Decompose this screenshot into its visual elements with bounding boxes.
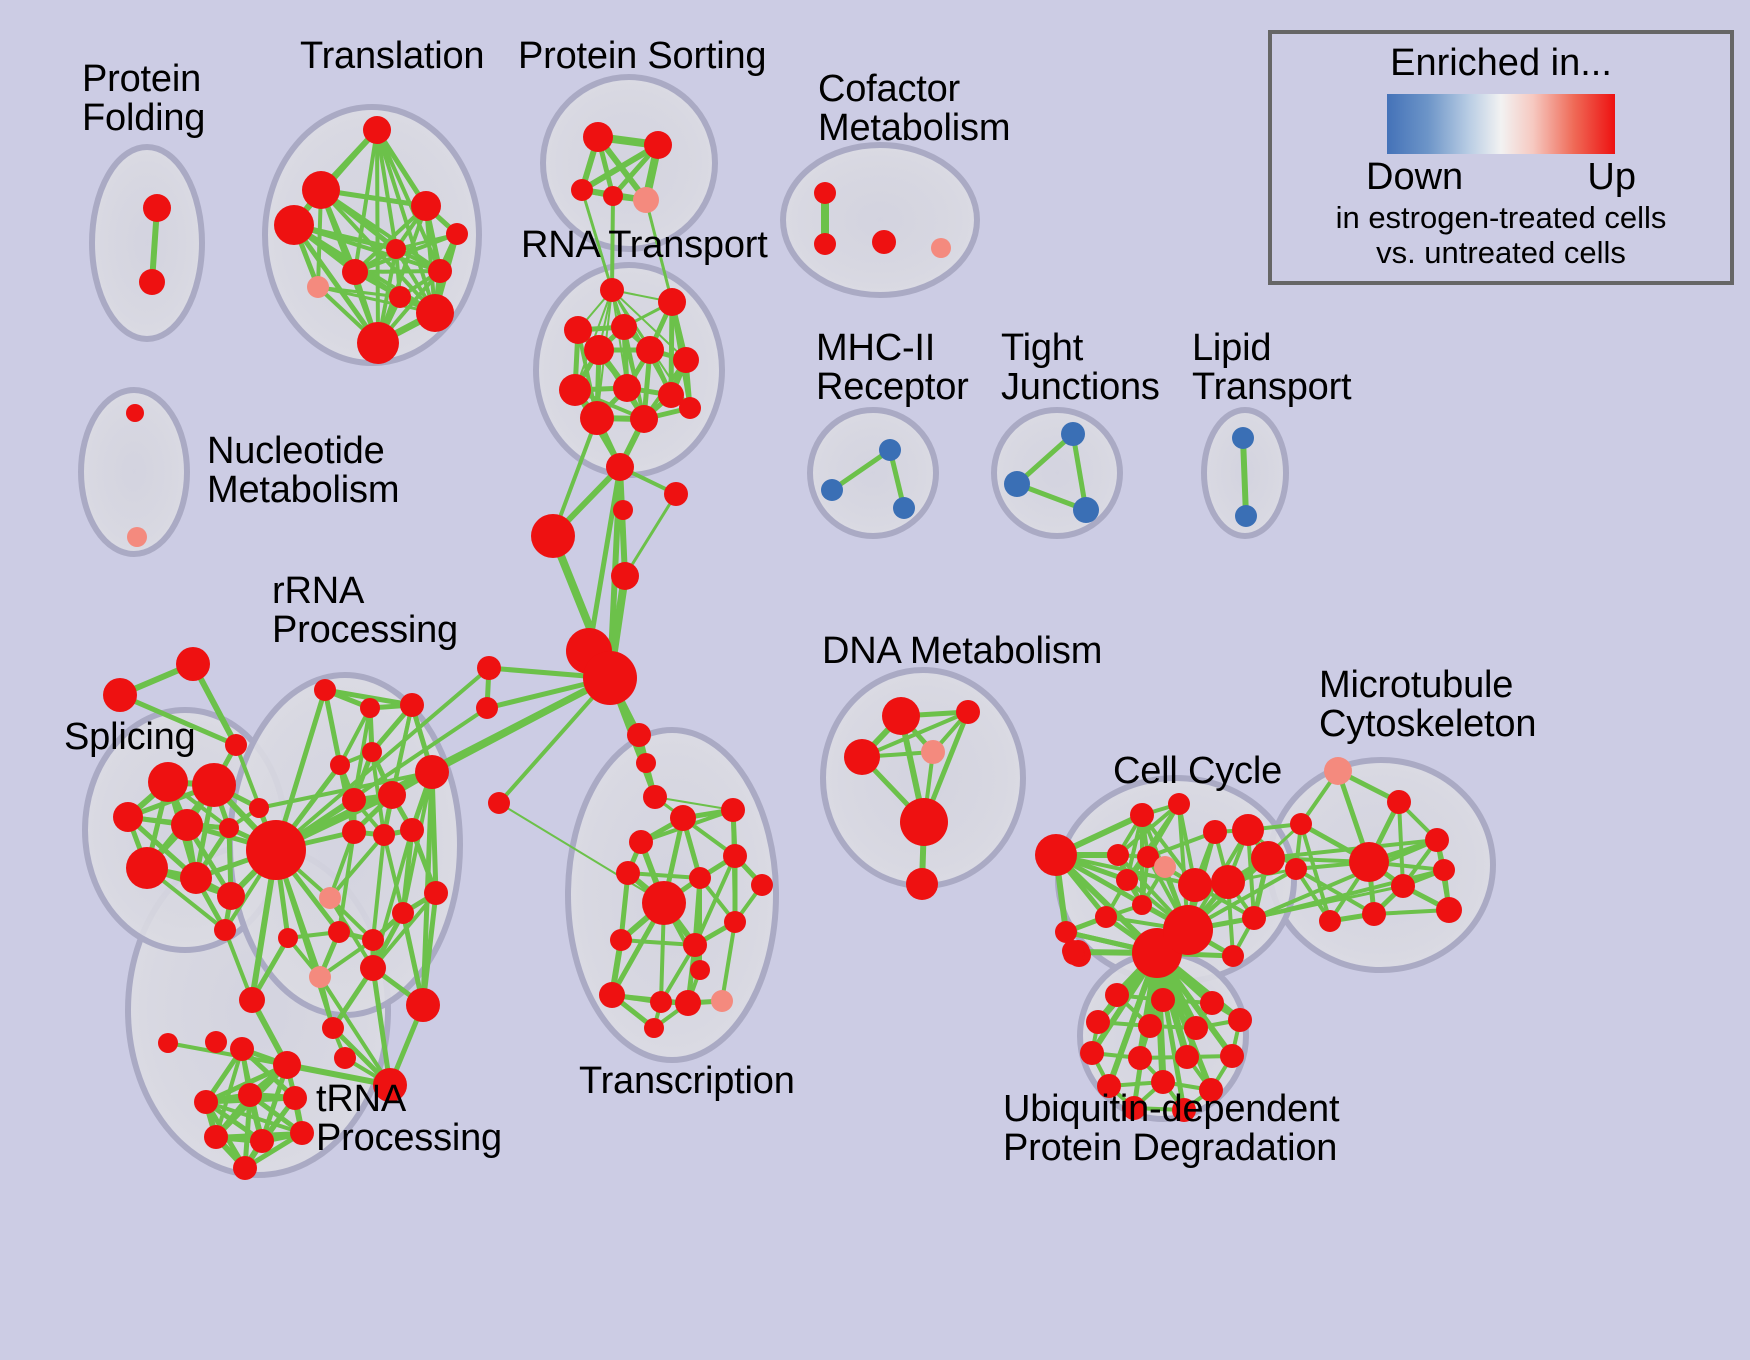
cluster-label-line: Microtubule — [1319, 666, 1536, 705]
gene-set-node[interactable] — [879, 439, 901, 461]
cluster-label-line: Transport — [1192, 368, 1351, 407]
cluster-label-rrna-processing: rRNAProcessing — [272, 572, 458, 650]
gene-set-node[interactable] — [1151, 988, 1175, 1012]
cluster-label-translation: Translation — [300, 37, 484, 76]
gene-set-node[interactable] — [415, 755, 449, 789]
gene-set-node[interactable] — [1130, 803, 1154, 827]
gene-set-node[interactable] — [751, 874, 773, 896]
cluster-label-line: DNA Metabolism — [822, 632, 1102, 671]
gene-set-node[interactable] — [192, 763, 236, 807]
gene-set-node[interactable] — [627, 723, 651, 747]
gene-set-node[interactable] — [1178, 868, 1212, 902]
gene-set-node[interactable] — [721, 798, 745, 822]
gene-set-node[interactable] — [362, 929, 384, 951]
gene-set-node[interactable] — [1200, 991, 1224, 1015]
cluster-label-line: Receptor — [816, 368, 969, 407]
gene-set-node[interactable] — [689, 867, 711, 889]
gene-set-node[interactable] — [217, 882, 245, 910]
gene-set-node[interactable] — [606, 453, 634, 481]
gene-set-node[interactable] — [724, 911, 746, 933]
gene-set-node[interactable] — [1073, 497, 1099, 523]
gene-set-node[interactable] — [148, 762, 188, 802]
gene-set-node[interactable] — [239, 987, 265, 1013]
gene-set-node[interactable] — [1290, 813, 1312, 835]
gene-set-node[interactable] — [711, 990, 733, 1012]
cluster-label-line: Translation — [300, 37, 484, 76]
gene-set-node[interactable] — [1086, 1010, 1110, 1034]
cluster-label-line: Protein Degradation — [1003, 1129, 1339, 1168]
legend-colorbar — [1387, 94, 1615, 154]
gene-set-node[interactable] — [675, 990, 701, 1016]
gene-set-node[interactable] — [670, 805, 696, 831]
gene-set-node[interactable] — [225, 734, 247, 756]
gene-set-node[interactable] — [644, 131, 672, 159]
gene-set-node[interactable] — [278, 928, 298, 948]
gene-set-node[interactable] — [373, 824, 395, 846]
gene-set-node[interactable] — [360, 698, 380, 718]
gene-set-node[interactable] — [1105, 983, 1129, 1007]
gene-set-node[interactable] — [1387, 790, 1411, 814]
mhc-ii-hull — [810, 410, 936, 536]
gene-set-node[interactable] — [1168, 793, 1190, 815]
gene-set-node[interactable] — [931, 238, 951, 258]
gene-set-node[interactable] — [599, 982, 625, 1008]
gene-set-node[interactable] — [322, 1017, 344, 1039]
cluster-label-splicing: Splicing — [64, 718, 195, 757]
gene-set-node[interactable] — [307, 276, 329, 298]
gene-set-node[interactable] — [644, 1018, 664, 1038]
gene-set-node[interactable] — [1324, 757, 1352, 785]
cofactor-metabolism-hull — [783, 145, 977, 295]
gene-set-node[interactable] — [629, 830, 653, 854]
gene-set-node[interactable] — [392, 902, 414, 924]
gene-set-node[interactable] — [274, 205, 314, 245]
gene-set-node[interactable] — [360, 955, 386, 981]
cluster-label-trna-processing: tRNAProcessing — [316, 1080, 502, 1158]
network-edge — [625, 494, 676, 576]
gene-set-node[interactable] — [238, 1083, 262, 1107]
gene-set-node[interactable] — [1055, 921, 1077, 943]
gene-set-node[interactable] — [1433, 859, 1455, 881]
gene-set-node[interactable] — [127, 527, 147, 547]
gene-set-node[interactable] — [330, 755, 350, 775]
gene-set-node[interactable] — [893, 497, 915, 519]
gene-set-node[interactable] — [488, 792, 510, 814]
gene-set-node[interactable] — [126, 847, 168, 889]
cluster-label-line: Processing — [316, 1119, 502, 1158]
gene-set-node[interactable] — [650, 991, 672, 1013]
gene-set-node[interactable] — [1154, 856, 1176, 878]
gene-set-node[interactable] — [400, 818, 424, 842]
cluster-label-line: Tight — [1001, 329, 1160, 368]
gene-set-node[interactable] — [273, 1051, 301, 1079]
cluster-label-line: tRNA — [316, 1080, 502, 1119]
cluster-label-line: Processing — [272, 611, 458, 650]
gene-set-node[interactable] — [1203, 820, 1227, 844]
gene-set-node[interactable] — [814, 182, 836, 204]
gene-set-node[interactable] — [139, 269, 165, 295]
gene-set-node[interactable] — [113, 802, 143, 832]
gene-set-node[interactable] — [1175, 1045, 1199, 1069]
gene-set-node[interactable] — [1220, 1044, 1244, 1068]
gene-set-node[interactable] — [1211, 865, 1245, 899]
cluster-label-transcription: Transcription — [579, 1062, 795, 1101]
cluster-label-rna-transport: RNA Transport — [521, 226, 768, 265]
protein-folding-hull — [92, 147, 202, 339]
gene-set-node[interactable] — [633, 187, 659, 213]
gene-set-node[interactable] — [204, 1125, 228, 1149]
gene-set-node[interactable] — [580, 401, 614, 435]
gene-set-node[interactable] — [1184, 1016, 1208, 1040]
gene-set-node[interactable] — [446, 223, 468, 245]
legend-endpoints: Down Up — [1366, 156, 1636, 199]
cluster-label-tight-junctions: TightJunctions — [1001, 329, 1160, 407]
gene-set-node[interactable] — [611, 314, 637, 340]
gene-set-node[interactable] — [428, 259, 452, 283]
gene-set-node[interactable] — [334, 1047, 356, 1069]
cluster-label-protein-folding: ProteinFolding — [82, 60, 205, 138]
cluster-label-line: Ubiquitin-dependent — [1003, 1090, 1339, 1129]
gene-set-node[interactable] — [1061, 422, 1085, 446]
gene-set-node[interactable] — [630, 405, 658, 433]
gene-set-node[interactable] — [613, 500, 633, 520]
cluster-label-line: Splicing — [64, 718, 195, 757]
gene-set-node[interactable] — [1349, 842, 1389, 882]
gene-set-node[interactable] — [126, 404, 144, 422]
gene-set-node[interactable] — [583, 651, 637, 705]
gene-set-node[interactable] — [821, 479, 843, 501]
gene-set-node[interactable] — [690, 960, 710, 980]
gene-set-node[interactable] — [143, 194, 171, 222]
legend-title: Enriched in... — [1390, 42, 1612, 85]
legend-caption-line1: in estrogen-treated cells — [1336, 201, 1667, 234]
gene-set-node[interactable] — [386, 239, 406, 259]
gene-set-node[interactable] — [643, 785, 667, 809]
gene-set-node[interactable] — [246, 820, 306, 880]
gene-set-node[interactable] — [1251, 841, 1285, 875]
gene-set-node[interactable] — [309, 966, 331, 988]
gene-set-node[interactable] — [233, 1156, 257, 1180]
gene-set-node[interactable] — [194, 1090, 218, 1114]
gene-set-node[interactable] — [230, 1037, 254, 1061]
gene-set-node[interactable] — [613, 374, 641, 402]
gene-set-node[interactable] — [176, 647, 210, 681]
network-edge — [1243, 438, 1246, 516]
gene-set-node[interactable] — [214, 919, 236, 941]
gene-set-node[interactable] — [1107, 844, 1129, 866]
cluster-label-line: MHC-II — [816, 329, 969, 368]
cluster-label-line: Metabolism — [207, 471, 399, 510]
cluster-label-line: Transcription — [579, 1062, 795, 1101]
gene-set-node[interactable] — [611, 562, 639, 590]
gene-set-node[interactable] — [314, 679, 336, 701]
gene-set-node[interactable] — [1128, 1046, 1152, 1070]
gene-set-node[interactable] — [559, 374, 591, 406]
gene-set-node[interactable] — [103, 678, 137, 712]
gene-set-node[interactable] — [389, 286, 411, 308]
gene-set-node[interactable] — [571, 179, 593, 201]
gene-set-node[interactable] — [1132, 895, 1152, 915]
gene-set-node[interactable] — [610, 929, 632, 951]
gene-set-node[interactable] — [362, 742, 382, 762]
gene-set-node[interactable] — [679, 397, 701, 419]
gene-set-node[interactable] — [400, 693, 424, 717]
gene-set-node[interactable] — [290, 1121, 314, 1145]
gene-set-node[interactable] — [584, 335, 614, 365]
gene-set-node[interactable] — [723, 844, 747, 868]
gene-set-node[interactable] — [219, 818, 239, 838]
legend-high-label: Up — [1587, 156, 1636, 199]
cluster-label-cell-cycle: Cell Cycle — [1113, 752, 1282, 791]
gene-set-node[interactable] — [906, 868, 938, 900]
gene-set-node[interactable] — [1116, 869, 1138, 891]
cluster-label-ubiquitin-degradation: Ubiquitin-dependentProtein Degradation — [1003, 1090, 1339, 1168]
gene-set-node[interactable] — [477, 656, 501, 680]
gene-set-node[interactable] — [302, 171, 340, 209]
gene-set-node[interactable] — [1425, 828, 1449, 852]
gene-set-node[interactable] — [636, 753, 656, 773]
cluster-label-lipid-transport: LipidTransport — [1192, 329, 1351, 407]
gene-set-node[interactable] — [249, 798, 269, 818]
gene-set-node[interactable] — [872, 230, 896, 254]
legend-caption-line2: vs. untreated cells — [1376, 236, 1626, 269]
legend-panel: Enriched in... Down Up in estrogen-treat… — [1268, 30, 1734, 285]
cluster-label-line: rRNA — [272, 572, 458, 611]
gene-set-node[interactable] — [600, 278, 624, 302]
gene-set-node[interactable] — [636, 336, 664, 364]
cluster-label-line: Cytoskeleton — [1319, 705, 1536, 744]
gene-set-node[interactable] — [319, 887, 341, 909]
gene-set-node[interactable] — [658, 288, 686, 316]
gene-set-node[interactable] — [1138, 1014, 1162, 1038]
gene-set-node[interactable] — [363, 116, 391, 144]
gene-set-node[interactable] — [205, 1031, 227, 1053]
gene-set-node[interactable] — [342, 788, 366, 812]
gene-set-node[interactable] — [1080, 1041, 1104, 1065]
gene-set-node[interactable] — [378, 781, 406, 809]
gene-set-node[interactable] — [1285, 858, 1307, 880]
gene-set-node[interactable] — [1242, 906, 1266, 930]
cluster-label-dna-metabolism: DNA Metabolism — [822, 632, 1102, 671]
gene-set-node[interactable] — [283, 1086, 307, 1110]
gene-set-node[interactable] — [642, 881, 686, 925]
cluster-label-mhc-ii-receptor: MHC-IIReceptor — [816, 329, 969, 407]
cluster-label-cofactor-metabolism: CofactorMetabolism — [818, 70, 1010, 148]
cluster-label-line: Lipid — [1192, 329, 1351, 368]
gene-set-node[interactable] — [424, 881, 448, 905]
gene-set-node[interactable] — [1222, 945, 1244, 967]
cluster-label-line: Metabolism — [818, 109, 1010, 148]
cluster-label-nucleotide-metabolism: NucleotideMetabolism — [207, 432, 399, 510]
gene-set-node[interactable] — [357, 322, 399, 364]
gene-set-node[interactable] — [664, 482, 688, 506]
gene-set-node[interactable] — [1004, 471, 1030, 497]
gene-set-node[interactable] — [882, 697, 920, 735]
gene-set-node[interactable] — [250, 1129, 274, 1153]
cluster-label-line: Protein — [82, 60, 205, 99]
cluster-label-line: Cell Cycle — [1113, 752, 1282, 791]
gene-set-node[interactable] — [342, 259, 368, 285]
gene-set-node[interactable] — [1095, 906, 1117, 928]
gene-set-node[interactable] — [1163, 905, 1213, 955]
gene-set-node[interactable] — [476, 697, 498, 719]
gene-set-node[interactable] — [328, 921, 350, 943]
gene-set-node[interactable] — [1362, 902, 1386, 926]
enrichment-network-figure: ProteinFoldingTranslationProtein Sorting… — [0, 0, 1750, 1360]
gene-set-node[interactable] — [900, 798, 948, 846]
cluster-label-microtubule-cytoskeleton: MicrotubuleCytoskeleton — [1319, 666, 1536, 744]
gene-set-node[interactable] — [180, 862, 212, 894]
gene-set-node[interactable] — [342, 820, 366, 844]
gene-set-node[interactable] — [1235, 505, 1257, 527]
gene-set-node[interactable] — [921, 740, 945, 764]
gene-set-node[interactable] — [683, 933, 707, 957]
gene-set-node[interactable] — [171, 809, 203, 841]
cluster-label-line: Nucleotide — [207, 432, 399, 471]
gene-set-node[interactable] — [411, 191, 441, 221]
gene-set-node[interactable] — [583, 122, 613, 152]
gene-set-node[interactable] — [1436, 897, 1462, 923]
gene-set-node[interactable] — [1391, 874, 1415, 898]
gene-set-node[interactable] — [844, 739, 880, 775]
gene-set-node[interactable] — [1228, 1008, 1252, 1032]
cluster-label-line: Junctions — [1001, 368, 1160, 407]
gene-set-node[interactable] — [1035, 834, 1077, 876]
gene-set-node[interactable] — [603, 186, 623, 206]
gene-set-node[interactable] — [1319, 910, 1341, 932]
gene-set-node[interactable] — [416, 294, 454, 332]
legend-low-label: Down — [1366, 156, 1463, 199]
gene-set-node[interactable] — [956, 700, 980, 724]
gene-set-node[interactable] — [531, 514, 575, 558]
gene-set-node[interactable] — [616, 861, 640, 885]
cluster-label-line: Folding — [82, 99, 205, 138]
gene-set-node[interactable] — [1232, 427, 1254, 449]
cluster-label-line: Cofactor — [818, 70, 1010, 109]
cluster-label-line: RNA Transport — [521, 226, 768, 265]
gene-set-node[interactable] — [564, 316, 592, 344]
cluster-label-line: Protein Sorting — [518, 37, 766, 76]
gene-set-node[interactable] — [673, 347, 699, 373]
gene-set-node[interactable] — [814, 233, 836, 255]
cluster-label-protein-sorting: Protein Sorting — [518, 37, 766, 76]
gene-set-node[interactable] — [158, 1033, 178, 1053]
gene-set-node[interactable] — [1232, 814, 1264, 846]
gene-set-node[interactable] — [406, 988, 440, 1022]
gene-set-node[interactable] — [1062, 940, 1084, 962]
